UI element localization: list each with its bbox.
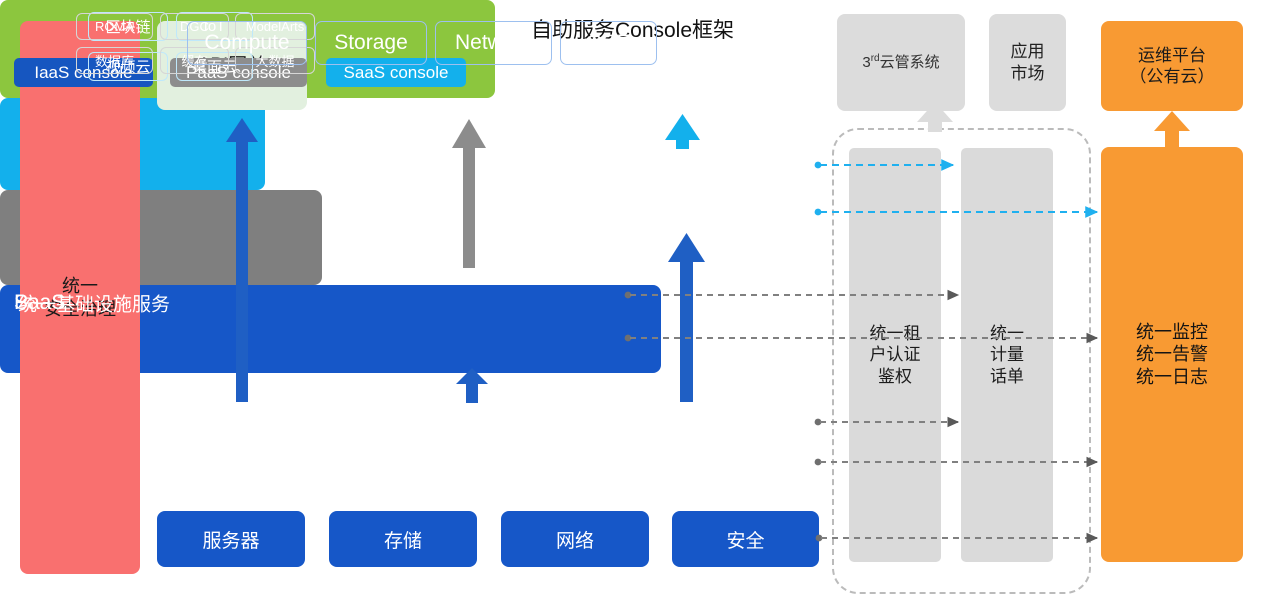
arrow-iaas-to-paas — [456, 368, 488, 403]
arrow-iaas-to-saas — [668, 233, 705, 402]
infra-box-server: 服务器 — [157, 511, 305, 567]
architecture-diagram: 统一 安全治理 API网关 自助服务Console框架 IaaS console… — [0, 0, 1265, 605]
iaas-chip-cce[interactable]: CCE — [560, 21, 657, 65]
ops-platform-public-cloud-box: 运维平台 （公有云） — [1101, 21, 1243, 111]
iaas-chip-network[interactable]: Network — [435, 21, 552, 65]
unified-metering-billing-column: 统一 计量 话单 — [961, 148, 1053, 562]
arrow-saas-to-console — [665, 114, 700, 149]
third-party-cloud-management-box: 3rd云管系统 — [837, 14, 965, 111]
unified-monitoring-column: 统一监控 统一告警 统一日志 — [1101, 147, 1243, 562]
unified-metering-billing-label: 统一 计量 话单 — [990, 323, 1024, 387]
infra-box-storage: 存储 — [329, 511, 477, 567]
app-market-label: 应用 市场 — [1011, 41, 1045, 84]
unified-tenant-auth-column: 统一租 户认证 鉴权 — [849, 148, 941, 562]
unified-tenant-auth-label: 统一租 户认证 鉴权 — [870, 323, 921, 387]
app-market-box: 应用 市场 — [989, 14, 1066, 111]
unified-monitoring-label: 统一监控 统一告警 统一日志 — [1136, 321, 1208, 389]
arrow-ops-column-to-ops-platform — [1154, 111, 1190, 147]
infra-box-security: 安全 — [672, 511, 819, 567]
infra-box-network: 网络 — [501, 511, 649, 567]
ops-platform-label: 运维平台 （公有云） — [1130, 45, 1215, 88]
third-party-label: 3rd云管系统 — [862, 53, 939, 73]
iaas-chip-storage[interactable]: Storage — [315, 21, 427, 65]
arrow-paas-to-console — [452, 119, 486, 268]
paas-chip-roma[interactable]: ROMA — [76, 13, 153, 40]
iaas-label: 统一基础设施服务 — [18, 289, 170, 316]
iaas-chip-compute[interactable]: Compute — [187, 21, 307, 65]
paas-chip-database[interactable]: 数据库 — [76, 47, 153, 74]
